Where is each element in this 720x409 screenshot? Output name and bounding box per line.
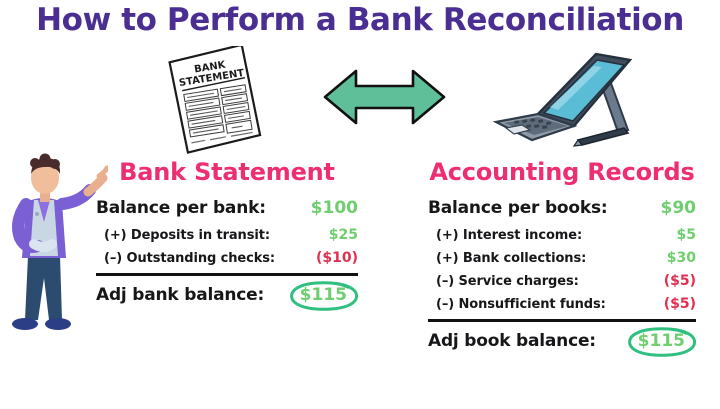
- page-title: How to Perform a Bank Reconciliation: [0, 2, 720, 38]
- row-label: (–) Service charges:: [436, 274, 579, 289]
- row-value: ($5): [664, 296, 696, 312]
- column-accounting-records: Accounting Records Balance per books: $9…: [428, 158, 696, 354]
- row-deposits-in-transit: (+) Deposits in transit: $25: [96, 227, 358, 243]
- double-headed-arrow-icon: [322, 66, 447, 128]
- row-value: ($5): [664, 273, 696, 289]
- bank-statement-document-icon: BANK STATEMENT: [158, 46, 268, 154]
- person-presenting-illustration: [4, 152, 108, 348]
- row-label: (+) Bank collections:: [436, 251, 586, 266]
- total-divider-rule: [96, 273, 358, 276]
- column-heading-bank-statement: Bank Statement: [96, 158, 358, 186]
- column-bank-statement: Bank Statement Balance per bank: $100 (+…: [96, 158, 358, 308]
- row-value: $100: [311, 198, 358, 218]
- row-label: (–) Nonsufficient funds:: [436, 297, 606, 312]
- row-value: $90: [661, 198, 697, 218]
- row-value: $25: [329, 227, 358, 243]
- row-bank-collections: (+) Bank collections: $30: [428, 250, 696, 266]
- row-nonsufficient-funds: (–) Nonsufficient funds: ($5): [428, 296, 696, 312]
- row-label: (+) Interest income:: [436, 228, 582, 243]
- circled-total-value: $115: [289, 284, 358, 308]
- row-label: Adj book balance:: [428, 331, 596, 351]
- row-balance-per-books: Balance per books: $90: [428, 198, 696, 218]
- row-value: $30: [667, 250, 696, 266]
- total-value-text: $115: [638, 331, 685, 351]
- row-value: $5: [677, 227, 696, 243]
- row-label: (–) Outstanding checks:: [104, 251, 275, 266]
- laptop-with-stylus-icon: [478, 44, 638, 156]
- infographic-canvas: How to Perform a Bank Reconciliation BAN…: [0, 0, 720, 409]
- total-value-text: $115: [300, 285, 347, 305]
- column-heading-accounting-records: Accounting Records: [428, 158, 696, 186]
- row-interest-income: (+) Interest income: $5: [428, 227, 696, 243]
- row-adj-bank-balance: Adj bank balance: $115: [96, 284, 358, 308]
- row-label: Balance per books:: [428, 198, 608, 218]
- total-divider-rule: [428, 319, 696, 322]
- row-label: (+) Deposits in transit:: [104, 228, 270, 243]
- row-adj-book-balance: Adj book balance: $115: [428, 330, 696, 354]
- row-label: Adj bank balance:: [96, 285, 264, 305]
- row-service-charges: (–) Service charges: ($5): [428, 273, 696, 289]
- row-value: ($10): [316, 250, 358, 266]
- circled-total-value: $115: [627, 330, 696, 354]
- row-outstanding-checks: (–) Outstanding checks: ($10): [96, 250, 358, 266]
- row-balance-per-bank: Balance per bank: $100: [96, 198, 358, 218]
- row-label: Balance per bank:: [96, 198, 266, 218]
